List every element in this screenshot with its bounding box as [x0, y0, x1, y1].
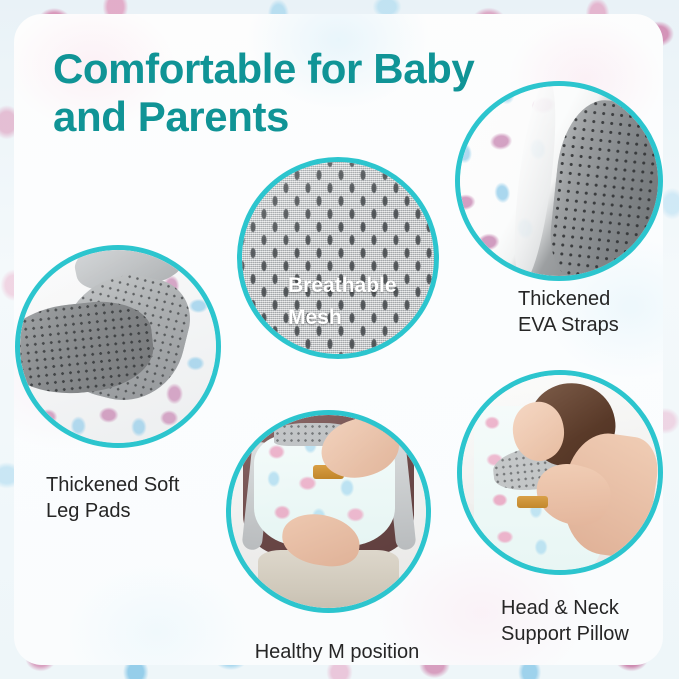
leg-pads-photo: [20, 250, 216, 443]
feature-photo-m-position[interactable]: [226, 410, 431, 613]
leg-pads-print-bottom: [28, 397, 197, 443]
feature-photo-eva-straps[interactable]: [455, 81, 663, 281]
feature-photo-head-neck-pillow[interactable]: [457, 370, 663, 575]
caption-leg-pads: Thickened Soft Leg Pads: [46, 472, 256, 525]
head-neck-photo: [462, 375, 658, 570]
content-card: Comfortable for Baby and Parents Breatha…: [14, 14, 663, 665]
m-position-photo: [231, 415, 426, 608]
infographic-canvas: Comfortable for Baby and Parents Breatha…: [0, 0, 679, 679]
caption-eva-straps: Thickened EVA Straps: [518, 286, 663, 339]
brand-tag: [517, 496, 548, 508]
overlay-label-breathable-mesh: Breathable Mesh: [288, 270, 397, 333]
caption-head-neck-pillow: Head & Neck Support Pillow: [501, 595, 663, 648]
feature-photo-breathable-mesh[interactable]: Breathable Mesh: [237, 157, 439, 359]
page-title: Comfortable for Baby and Parents: [53, 45, 523, 142]
caption-m-position: Healthy M position: [230, 639, 444, 665]
eva-strap-photo: [460, 86, 658, 276]
feature-photo-leg-pads[interactable]: [15, 245, 221, 448]
